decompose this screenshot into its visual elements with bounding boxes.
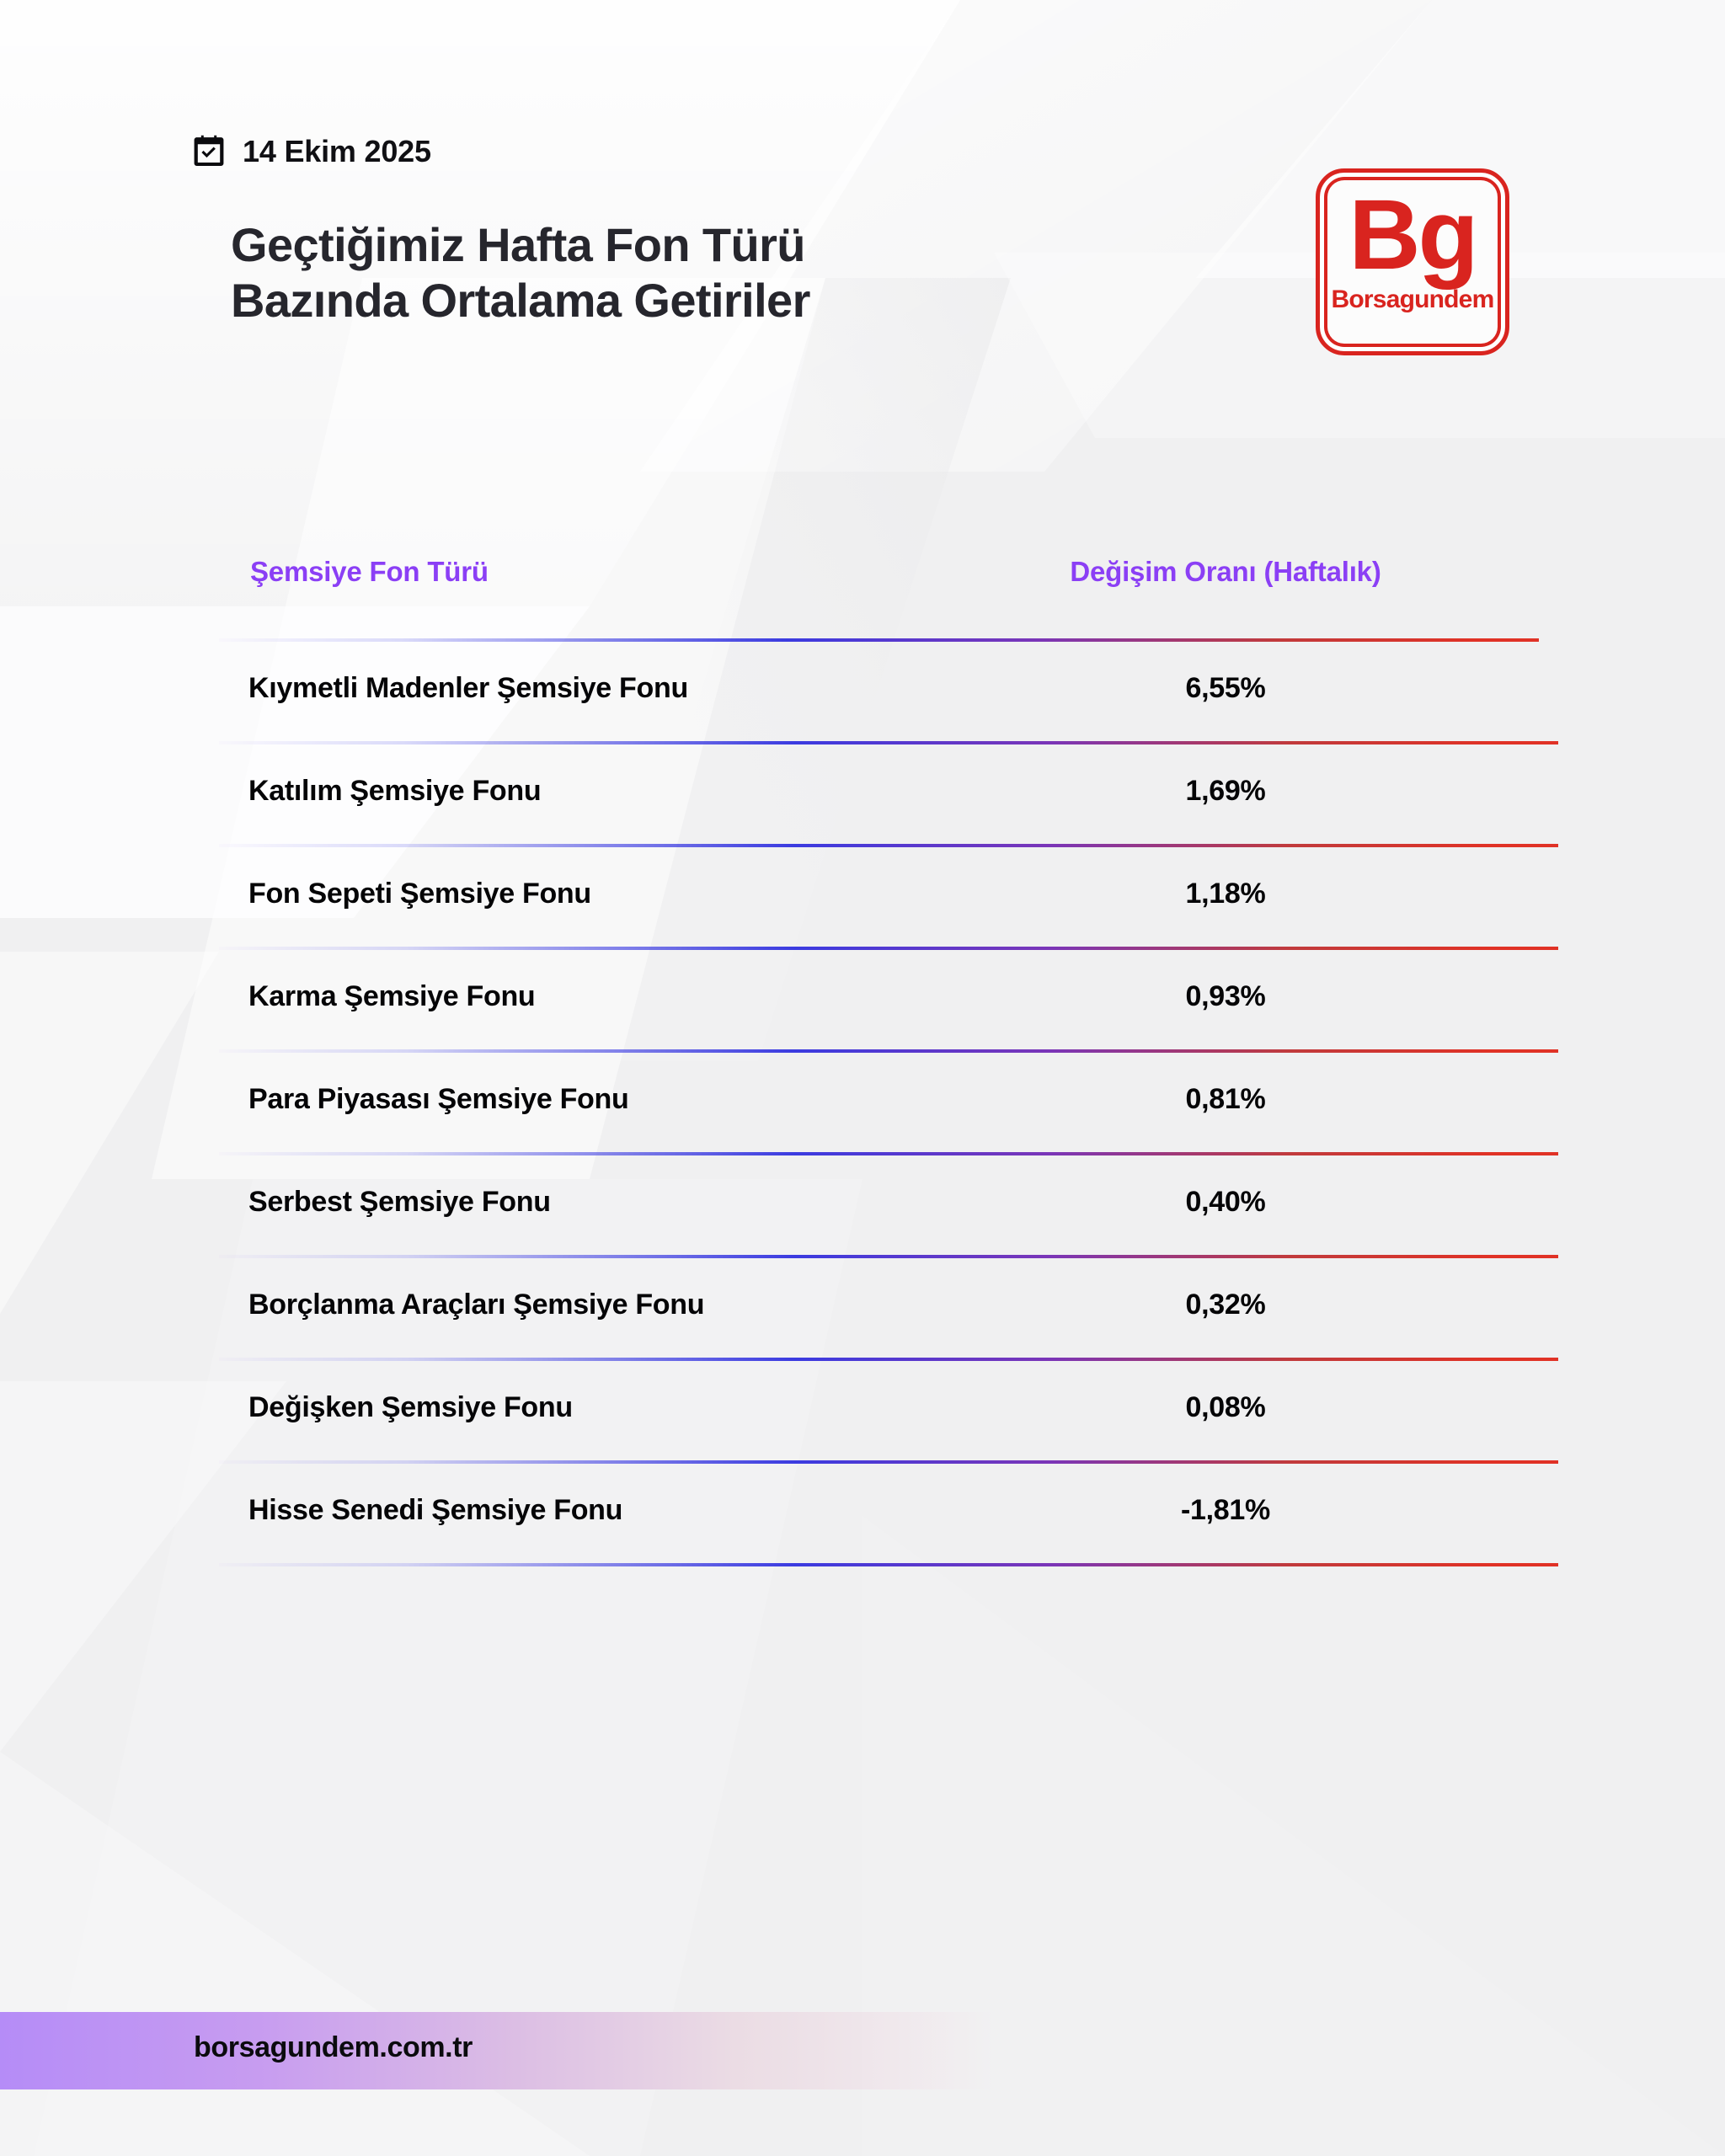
row-change-value: 0,81% — [1011, 1083, 1440, 1116]
table-row: Fon Sepeti Şemsiye Fonu 1,18% — [219, 847, 1558, 947]
row-fund-name: Hisse Senedi Şemsiye Fonu — [248, 1494, 622, 1527]
footer-bar — [0, 2012, 994, 2089]
row-change-value: 0,40% — [1011, 1186, 1440, 1219]
footer-website: borsagundem.com.tr — [194, 2031, 473, 2064]
table-row: Serbest Şemsiye Fonu 0,40% — [219, 1155, 1558, 1255]
row-divider — [219, 1563, 1558, 1566]
row-fund-name: Serbest Şemsiye Fonu — [248, 1186, 551, 1219]
row-change-value: -1,81% — [1011, 1494, 1440, 1527]
brand-logo: Bg Borsagundem — [1316, 168, 1509, 355]
row-change-value: 1,69% — [1011, 775, 1440, 808]
date-row: 14 Ekim 2025 — [190, 133, 431, 170]
page-title: Geçtiğimiz Hafta Fon Türü Bazında Ortala… — [231, 217, 810, 328]
column-header-fund-type: Şemsiye Fon Türü — [250, 556, 489, 588]
row-fund-name: Para Piyasası Şemsiye Fonu — [248, 1083, 628, 1116]
row-fund-name: Karma Şemsiye Fonu — [248, 980, 535, 1013]
table-row: Borçlanma Araçları Şemsiye Fonu 0,32% — [219, 1258, 1558, 1358]
row-change-value: 6,55% — [1011, 672, 1440, 705]
row-fund-name: Fon Sepeti Şemsiye Fonu — [248, 878, 591, 910]
table-row: Kıymetli Madenler Şemsiye Fonu 6,55% — [219, 642, 1558, 741]
row-fund-name: Kıymetli Madenler Şemsiye Fonu — [248, 672, 688, 705]
logo-mark: Bg — [1348, 188, 1476, 282]
logo-wordmark: Borsagundem — [1332, 286, 1494, 314]
table-row: Hisse Senedi Şemsiye Fonu -1,81% — [219, 1464, 1558, 1563]
calendar-check-icon — [190, 133, 227, 170]
row-fund-name: Değişken Şemsiye Fonu — [248, 1391, 573, 1424]
row-change-value: 0,32% — [1011, 1289, 1440, 1321]
column-header-change-rate: Değişim Oranı (Haftalık) — [1011, 556, 1440, 588]
table-header-row: Şemsiye Fon Türü Değişim Oranı (Haftalık… — [219, 539, 1558, 638]
table-row: Değişken Şemsiye Fonu 0,08% — [219, 1361, 1558, 1460]
table-row: Para Piyasası Şemsiye Fonu 0,81% — [219, 1053, 1558, 1152]
table-row: Karma Şemsiye Fonu 0,93% — [219, 950, 1558, 1049]
row-change-value: 0,08% — [1011, 1391, 1440, 1424]
row-change-value: 1,18% — [1011, 878, 1440, 910]
date-text: 14 Ekim 2025 — [243, 136, 431, 167]
row-change-value: 0,93% — [1011, 980, 1440, 1013]
table-row: Katılım Şemsiye Fonu 1,69% — [219, 744, 1558, 844]
fund-returns-table: Şemsiye Fon Türü Değişim Oranı (Haftalık… — [219, 539, 1558, 1566]
row-fund-name: Borçlanma Araçları Şemsiye Fonu — [248, 1289, 704, 1321]
row-fund-name: Katılım Şemsiye Fonu — [248, 775, 541, 808]
